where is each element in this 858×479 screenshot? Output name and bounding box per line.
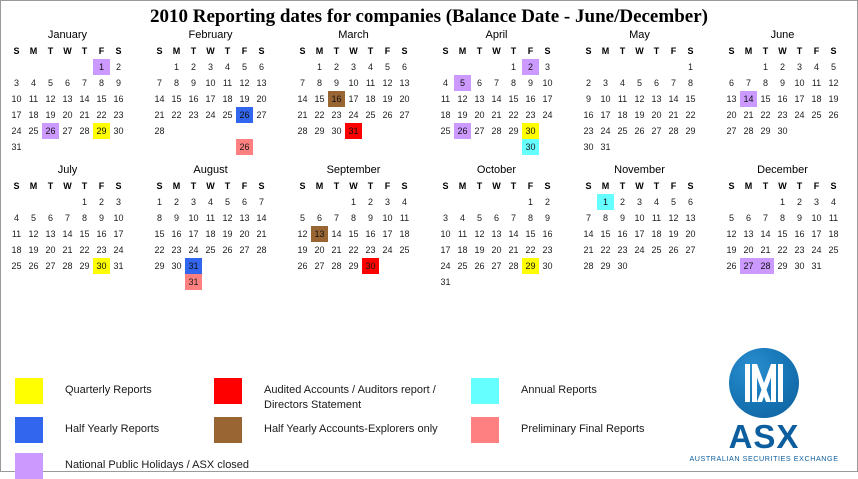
weekday-label: T [614,45,631,58]
month-name: October [430,163,573,177]
weekday-label: W [488,180,505,193]
day-cell: 23 [580,123,597,139]
day-cell: 6 [488,210,505,226]
day-cell: 2 [580,75,597,91]
weekday-label: T [185,45,202,58]
day-cell-empty: . [723,59,740,75]
day-cell: 29 [345,258,362,274]
month-name: March [287,28,430,42]
day-cell-empty: . [59,194,76,210]
day-cell: 28 [151,123,168,139]
weekday-label: T [471,180,488,193]
day-cell: 11 [8,226,25,242]
extra-annotation-row: .....26. [144,139,287,155]
day-cell: 19 [294,242,311,258]
day-cell: 11 [648,210,665,226]
day-cell: 12 [25,226,42,242]
legend-label: Preliminary Final Reports [521,417,644,437]
weekday-label: T [42,180,59,193]
day-cell: 14 [505,226,522,242]
weekday-label: M [454,45,471,58]
day-cell: 29 [151,258,168,274]
day-cell: 5 [25,210,42,226]
days-grid: ......1234567891011121314151617181920212… [573,59,716,155]
day-cell: 4 [648,194,665,210]
day-cell: 27 [311,258,328,274]
day-cell: 2 [791,194,808,210]
days-grid: ....123456789101112131415161718192021222… [1,194,144,274]
calendar-months-row-second-half: JulySMTWTFS....1234567891011121314151617… [1,163,858,290]
day-cell: 10 [202,75,219,91]
day-cell-empty: . [740,194,757,210]
day-cell: 17 [345,91,362,107]
day-cell-empty: . [294,59,311,75]
day-cell: 25 [614,123,631,139]
day-cell: 20 [740,242,757,258]
day-cell: 8 [522,210,539,226]
day-cell: 22 [311,107,328,123]
day-cell: 9 [110,75,127,91]
day-cell: 24 [597,123,614,139]
month-name: May [573,28,716,42]
day-cell: 1 [757,59,774,75]
weekday-label: W [631,180,648,193]
day-cell: 13 [236,210,253,226]
day-cell: 21 [294,107,311,123]
day-cell: 1 [522,194,539,210]
day-cell: 18 [202,226,219,242]
day-cell: 7 [665,75,682,91]
day-cell-highlighted: 1 [93,59,110,75]
day-cell: 18 [454,242,471,258]
day-cell-empty: . [294,194,311,210]
day-cell: 19 [454,107,471,123]
day-cell: 30 [539,258,556,274]
day-cell-highlighted: 29 [522,258,539,274]
weekday-header-row: SMTWTFS [1,180,144,193]
weekday-header-row: SMTWTFS [144,45,287,58]
weekday-label: M [597,180,614,193]
day-cell-empty: . [151,59,168,75]
day-cell-empty: . [8,194,25,210]
day-cell-empty: . [580,194,597,210]
day-cell: 19 [236,91,253,107]
legend-item: National Public Holidays / ASX closed [15,453,249,479]
month-september: SeptemberSMTWTFS...123456789101112131415… [287,163,430,290]
day-cell: 30 [774,123,791,139]
day-cell: 24 [8,123,25,139]
weekday-label: T [219,45,236,58]
weekday-header-row: SMTWTFS [716,45,858,58]
legend-label: National Public Holidays / ASX closed [65,453,249,473]
day-cell-empty: . [665,59,682,75]
extra-day-marker: 26 [236,139,253,155]
days-grid: ...1234567891011121314151617181920212223… [716,194,858,274]
day-cell: 24 [345,107,362,123]
day-cell: 8 [345,210,362,226]
day-cell: 2 [110,59,127,75]
legend-label: Audited Accounts / Auditors report / Dir… [264,378,436,413]
day-cell: 29 [682,123,699,139]
day-cell-highlighted: 26 [454,123,471,139]
day-cell: 29 [757,123,774,139]
weekday-label: S [723,180,740,193]
day-cell: 15 [151,226,168,242]
weekday-label: T [614,180,631,193]
weekday-label: F [236,45,253,58]
day-cell: 24 [437,258,454,274]
asx-hourglass-icon [742,361,786,405]
day-cell-empty: . [437,59,454,75]
day-cell: 9 [93,210,110,226]
day-cell: 20 [311,242,328,258]
day-cell: 29 [76,258,93,274]
day-cell: 22 [774,242,791,258]
day-cell: 11 [202,210,219,226]
day-cell: 2 [328,59,345,75]
day-cell: 3 [202,59,219,75]
day-cell: 17 [631,226,648,242]
day-cell: 13 [42,226,59,242]
day-cell: 15 [345,226,362,242]
weekday-header-row: SMTWTFS [573,45,716,58]
day-cell: 26 [294,258,311,274]
day-cell: 11 [219,75,236,91]
legend-swatch [15,417,43,443]
day-cell: 5 [236,59,253,75]
day-cell-empty: . [42,59,59,75]
day-cell: 19 [631,107,648,123]
day-cell: 31 [597,139,614,155]
day-cell: 15 [522,226,539,242]
day-cell: 24 [791,107,808,123]
weekday-label: T [505,180,522,193]
weekday-label: F [808,45,825,58]
day-cell: 26 [631,123,648,139]
day-cell-empty: . [614,59,631,75]
day-cell: 9 [580,91,597,107]
day-cell: 5 [219,194,236,210]
weekday-label: T [362,180,379,193]
day-cell: 26 [665,242,682,258]
weekday-label: S [8,45,25,58]
weekday-label: S [396,180,413,193]
weekday-label: F [665,45,682,58]
day-cell: 10 [185,210,202,226]
day-cell-empty: . [723,194,740,210]
weekday-label: M [25,180,42,193]
day-cell: 16 [791,226,808,242]
day-cell: 30 [110,123,127,139]
weekday-header-row: SMTWTFS [573,180,716,193]
day-cell: 4 [825,194,842,210]
day-cell: 20 [648,107,665,123]
weekday-label: S [580,45,597,58]
day-cell: 18 [8,242,25,258]
day-cell: 1 [311,59,328,75]
extra-annotation-row: ..31.... [144,274,287,290]
day-cell: 10 [345,75,362,91]
legend-swatch [471,378,499,404]
day-cell: 12 [454,91,471,107]
day-cell: 6 [723,75,740,91]
day-cell: 12 [219,210,236,226]
day-cell: 11 [437,91,454,107]
day-cell: 7 [253,194,270,210]
day-cell: 28 [253,242,270,258]
day-cell: 10 [8,91,25,107]
day-cell: 21 [580,242,597,258]
legend-swatch [15,378,43,404]
day-cell-empty: . [454,194,471,210]
day-cell: 8 [311,75,328,91]
day-cell: 8 [682,75,699,91]
day-cell-highlighted: 30 [93,258,110,274]
calendar-months-row-first-half: JanuarySMTWTFS.....123456789101112131415… [1,28,858,155]
day-cell: 15 [774,226,791,242]
asx-logo: ASX AUSTRALIAN SECURITIES EXCHANGE [689,348,839,463]
weekday-label: T [471,45,488,58]
weekday-header-row: SMTWTFS [144,180,287,193]
day-cell: 16 [93,226,110,242]
day-cell: 22 [682,107,699,123]
weekday-label: S [723,45,740,58]
day-cell: 3 [185,194,202,210]
day-cell: 9 [774,75,791,91]
weekday-label: S [825,45,842,58]
weekday-header-row: SMTWTFS [430,45,573,58]
day-cell: 20 [59,107,76,123]
day-cell: 11 [825,210,842,226]
day-cell: 9 [185,75,202,91]
day-cell: 28 [294,123,311,139]
day-cell: 6 [253,59,270,75]
days-grid: ..12345678910111213141516171819202122232… [716,59,858,139]
month-name: July [1,163,144,177]
day-cell: 28 [740,123,757,139]
day-cell: 26 [825,107,842,123]
day-cell: 21 [488,107,505,123]
day-cell: 8 [505,75,522,91]
day-cell: 20 [682,226,699,242]
days-grid: .123456789101112131415161718192021222324… [573,194,716,274]
day-cell: 4 [614,75,631,91]
day-cell: 8 [93,75,110,91]
day-cell: 15 [682,91,699,107]
day-cell: 13 [59,91,76,107]
day-cell: 2 [185,59,202,75]
day-cell: 20 [723,107,740,123]
day-cell: 8 [774,210,791,226]
day-cell: 15 [597,226,614,242]
weekday-label: T [648,45,665,58]
day-cell: 22 [597,242,614,258]
day-cell: 9 [168,210,185,226]
day-cell: 30 [580,139,597,155]
day-cell-empty: . [471,194,488,210]
day-cell-empty: . [648,59,665,75]
weekday-label: T [328,180,345,193]
day-cell: 13 [723,91,740,107]
day-cell: 6 [396,59,413,75]
day-cell-empty: . [8,59,25,75]
day-cell: 2 [614,194,631,210]
legend-swatch [471,417,499,443]
weekday-label: M [168,180,185,193]
day-cell: 27 [42,258,59,274]
day-cell: 23 [328,107,345,123]
day-cell: 14 [757,226,774,242]
weekday-label: T [791,45,808,58]
legend-swatch [15,453,43,479]
month-april: AprilSMTWTFS....123456789101112131415161… [430,28,573,155]
day-cell: 8 [757,75,774,91]
day-cell: 6 [236,194,253,210]
day-cell: 29 [311,123,328,139]
day-cell: 12 [723,226,740,242]
day-cell: 14 [253,210,270,226]
month-name: January [1,28,144,42]
day-cell: 3 [791,59,808,75]
day-cell: 2 [93,194,110,210]
day-cell: 11 [362,75,379,91]
weekday-label: S [539,180,556,193]
day-cell: 5 [471,210,488,226]
month-march: MarchSMTWTFS.123456789101112131415161718… [287,28,430,155]
day-cell: 19 [723,242,740,258]
day-cell: 11 [25,91,42,107]
weekday-label: S [151,45,168,58]
day-cell: 21 [151,107,168,123]
day-cell: 22 [93,107,110,123]
day-cell: 1 [168,59,185,75]
weekday-label: M [740,180,757,193]
legend-item: Preliminary Final Reports [471,417,644,443]
day-cell: 6 [42,210,59,226]
day-cell: 24 [110,242,127,258]
day-cell: 1 [76,194,93,210]
day-cell: 5 [42,75,59,91]
day-cell: 25 [8,258,25,274]
day-cell: 13 [396,75,413,91]
weekday-label: T [219,180,236,193]
day-cell-empty: . [328,194,345,210]
extra-day-marker: 30 [522,139,539,155]
day-cell: 22 [151,242,168,258]
day-cell: 31 [808,258,825,274]
day-cell: 4 [808,59,825,75]
weekday-label: S [682,45,699,58]
legend-label: Half Yearly Reports [65,417,159,437]
day-cell: 21 [59,242,76,258]
weekday-label: F [379,45,396,58]
day-cell: 4 [25,75,42,91]
day-cell: 24 [379,242,396,258]
legend-label: Half Yearly Accounts-Explorers only [264,417,438,437]
day-cell: 22 [76,242,93,258]
days-grid: ...1234567891011121314151617181920212223… [287,194,430,274]
weekday-label: T [648,180,665,193]
day-cell: 10 [437,226,454,242]
legend-item: Annual Reports [471,378,597,404]
day-cell: 21 [76,107,93,123]
day-cell-empty: . [76,59,93,75]
weekday-label: T [328,45,345,58]
day-cell-highlighted: 16 [328,91,345,107]
day-cell: 18 [362,91,379,107]
legend-swatch [214,417,242,443]
day-cell: 14 [665,91,682,107]
day-cell: 28 [665,123,682,139]
day-cell: 23 [110,107,127,123]
weekday-label: T [362,45,379,58]
day-cell: 19 [25,242,42,258]
asx-circle-mark-icon [729,348,799,418]
day-cell: 11 [614,91,631,107]
day-cell: 3 [379,194,396,210]
day-cell-empty: . [25,59,42,75]
extra-day-marker: 31 [185,274,202,290]
day-cell-highlighted: 27 [740,258,757,274]
month-name: September [287,163,430,177]
day-cell: 28 [76,123,93,139]
weekday-label: S [825,180,842,193]
day-cell: 19 [42,107,59,123]
day-cell: 9 [362,210,379,226]
weekday-label: S [294,45,311,58]
day-cell-highlighted: 30 [522,123,539,139]
day-cell: 16 [522,91,539,107]
day-cell: 7 [488,75,505,91]
day-cell: 23 [539,242,556,258]
day-cell: 24 [185,242,202,258]
day-cell: 23 [93,242,110,258]
day-cell: 23 [522,107,539,123]
day-cell: 12 [42,91,59,107]
day-cell: 28 [59,258,76,274]
weekday-header-row: SMTWTFS [1,45,144,58]
day-cell: 25 [454,258,471,274]
day-cell: 15 [505,91,522,107]
weekday-label: T [42,45,59,58]
day-cell: 18 [808,91,825,107]
day-cell: 16 [168,226,185,242]
day-cell: 22 [522,242,539,258]
day-cell: 24 [808,242,825,258]
day-cell: 7 [328,210,345,226]
day-cell: 18 [25,107,42,123]
weekday-label: S [437,180,454,193]
day-cell: 16 [362,226,379,242]
day-cell: 9 [539,210,556,226]
day-cell: 25 [648,242,665,258]
day-cell: 17 [185,226,202,242]
legend-item: Half Yearly Accounts-Explorers only [214,417,438,443]
day-cell: 17 [379,226,396,242]
day-cell: 20 [488,242,505,258]
day-cell-empty: . [631,59,648,75]
day-cell: 10 [539,75,556,91]
weekday-label: T [791,180,808,193]
legend-label: Annual Reports [521,378,597,398]
month-november: NovemberSMTWTFS.123456789101112131415161… [573,163,716,290]
weekday-label: W [202,180,219,193]
legend-item: Half Yearly Reports [15,417,159,443]
weekday-label: F [522,45,539,58]
day-cell: 30 [614,258,631,274]
day-cell: 1 [774,194,791,210]
day-cell: 7 [59,210,76,226]
